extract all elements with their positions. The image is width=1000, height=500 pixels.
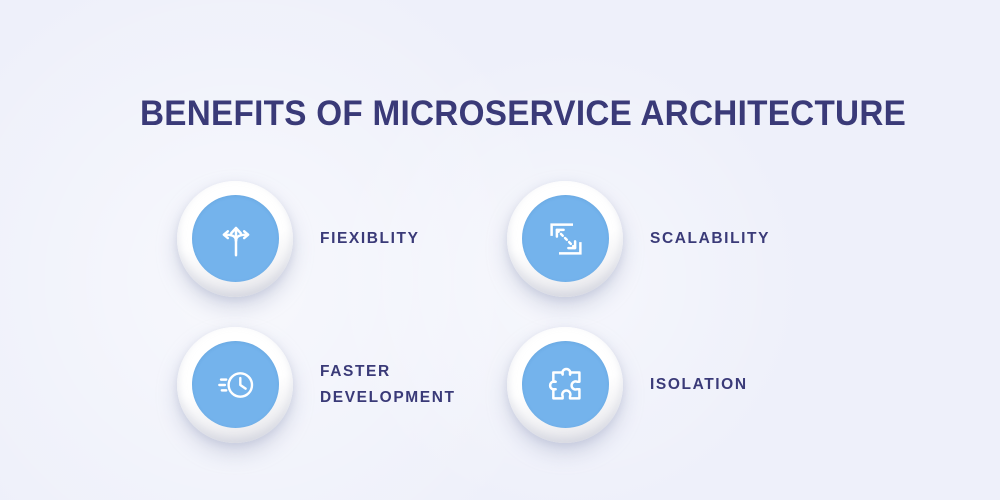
benefit-badge [177,181,293,297]
benefit-item-faster-development[interactable]: FASTER DEVELOPMENT [177,327,456,443]
puzzle-piece-icon [543,362,589,408]
badge-inner [522,195,609,282]
benefit-badge [177,327,293,443]
benefits-grid: FIEXIBLITY SCALABILITY [0,0,1000,500]
benefit-item-isolation[interactable]: ISOLATION [507,327,748,443]
benefit-label: SCALABILITY [650,226,770,252]
badge-inner [192,341,279,428]
clock-speed-icon [213,362,259,408]
three-way-arrow-icon [213,216,259,262]
badge-inner [192,195,279,282]
benefit-item-flexiblity[interactable]: FIEXIBLITY [177,181,420,297]
benefit-badge [507,181,623,297]
benefit-label: FIEXIBLITY [320,226,420,252]
benefit-label: ISOLATION [650,372,748,398]
benefit-label: FASTER DEVELOPMENT [320,359,456,411]
diagonal-resize-arrow-icon [543,216,589,262]
benefit-item-scalability[interactable]: SCALABILITY [507,181,770,297]
badge-inner [522,341,609,428]
benefit-badge [507,327,623,443]
